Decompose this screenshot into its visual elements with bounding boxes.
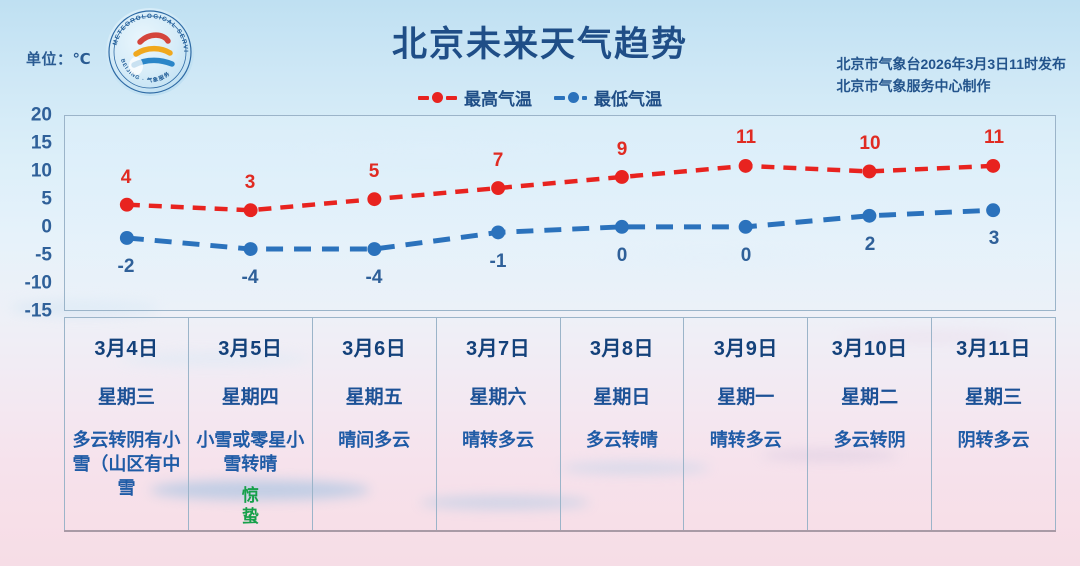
- forecast-date: 3月9日: [714, 332, 778, 361]
- legend-label-high: 最高气温: [464, 85, 532, 110]
- data-point-marker: [862, 165, 876, 179]
- legend-item-high: 最高气温: [418, 85, 532, 110]
- forecast-column-5[interactable]: 3月8日星期日多云转晴: [561, 318, 685, 530]
- temperature-chart-plot-area: [64, 115, 1056, 311]
- value-label-low: -1: [490, 251, 507, 273]
- value-label-high: 7: [493, 150, 504, 172]
- data-point-marker: [615, 170, 629, 184]
- forecast-weather: 晴转多云: [704, 429, 788, 453]
- y-axis-tick: -15: [25, 302, 52, 321]
- forecast-weather: 多云转阴: [828, 429, 912, 453]
- data-point-marker: [491, 181, 505, 195]
- forecast-column-4[interactable]: 3月7日星期六晴转多云: [437, 318, 561, 530]
- data-point-marker: [120, 198, 134, 212]
- data-point-marker: [862, 209, 876, 223]
- value-label-low: 0: [617, 245, 628, 267]
- forecast-column-6[interactable]: 3月9日星期一晴转多云: [684, 318, 808, 530]
- y-axis-tick: 0: [41, 218, 52, 237]
- y-axis-tick: 5: [41, 190, 52, 209]
- y-axis-tick: -5: [35, 246, 52, 265]
- forecast-date: 3月5日: [218, 332, 282, 361]
- data-point-marker: [244, 242, 258, 256]
- legend-label-low: 最低气温: [594, 85, 662, 110]
- y-axis-tick: 20: [31, 106, 52, 125]
- value-label-high: 3: [245, 172, 256, 194]
- value-label-low: -4: [242, 267, 259, 289]
- forecast-weekday: 星期三: [98, 382, 155, 409]
- data-point-marker: [739, 159, 753, 173]
- forecast-weekday: 星期六: [470, 382, 527, 409]
- forecast-column-8[interactable]: 3月11日星期三阴转多云: [932, 318, 1056, 530]
- value-label-low: 2: [865, 234, 876, 256]
- chart-legend: 最高气温 最低气温: [0, 85, 1080, 110]
- forecast-column-7[interactable]: 3月10日星期二多云转阴: [808, 318, 932, 530]
- forecast-weather: 阴转多云: [952, 429, 1036, 453]
- data-point-marker: [739, 220, 753, 234]
- value-label-high: 4: [121, 167, 132, 189]
- data-point-marker: [367, 242, 381, 256]
- forecast-date: 3月4日: [94, 332, 158, 361]
- value-label-high: 10: [859, 133, 880, 155]
- value-label-low: 3: [989, 228, 1000, 250]
- value-label-low: -2: [118, 256, 135, 278]
- value-label-high: 5: [369, 161, 380, 183]
- legend-swatch-high-icon: [418, 92, 457, 103]
- data-point-marker: [986, 203, 1000, 217]
- value-label-high: 11: [984, 127, 1004, 149]
- forecast-weather: 晴间多云: [332, 429, 416, 453]
- y-axis-tick: 10: [31, 162, 52, 181]
- value-label-low: -4: [366, 267, 383, 289]
- value-label-high: 9: [617, 139, 628, 161]
- forecast-weekday: 星期五: [346, 382, 403, 409]
- forecast-column-1[interactable]: 3月4日星期三多云转阴有小雪（山区有中雪: [64, 318, 189, 530]
- data-point-marker: [120, 231, 134, 245]
- forecast-date: 3月11日: [956, 332, 1031, 361]
- value-label-low: 0: [741, 245, 752, 267]
- forecast-weekday: 星期四: [222, 382, 279, 409]
- forecast-column-3[interactable]: 3月6日星期五晴间多云: [313, 318, 437, 530]
- y-axis-tick: 15: [31, 134, 52, 153]
- forecast-weather: 多云转晴: [580, 429, 664, 453]
- forecast-weekday: 星期一: [717, 382, 774, 409]
- forecast-column-2[interactable]: 3月5日星期四小雪或零星小雪转晴惊蛰: [189, 318, 313, 530]
- weather-forecast-graphic: 单位：℃ METEOROLOGICAL SERVICE BEIJING · 气象…: [0, 0, 1080, 566]
- forecast-weather: 晴转多云: [456, 429, 540, 453]
- forecast-table: 3月4日星期三多云转阴有小雪（山区有中雪3月5日星期四小雪或零星小雪转晴惊蛰3月…: [64, 317, 1056, 532]
- forecast-weekday: 星期三: [965, 382, 1022, 409]
- legend-item-low: 最低气温: [554, 85, 662, 110]
- forecast-weather: 小雪或零星小雪转晴: [189, 429, 312, 477]
- forecast-date: 3月6日: [342, 332, 406, 361]
- data-point-marker: [367, 192, 381, 206]
- y-axis: 20151050-5-10-15: [0, 115, 58, 311]
- forecast-date: 3月7日: [466, 332, 530, 361]
- forecast-weekday: 星期日: [593, 382, 650, 409]
- data-point-marker: [491, 225, 505, 239]
- forecast-date: 3月8日: [590, 332, 654, 361]
- value-label-high: 11: [736, 127, 756, 149]
- forecast-weather: 多云转阴有小雪（山区有中雪: [65, 429, 188, 500]
- legend-swatch-low-icon: [554, 92, 587, 103]
- solar-term-label: 惊蛰: [242, 485, 259, 529]
- forecast-date: 3月10日: [832, 332, 908, 361]
- attribution-issued: 北京市气象台2026年3月3日11时发布: [836, 54, 1066, 76]
- forecast-weekday: 星期二: [841, 382, 898, 409]
- data-point-marker: [615, 220, 629, 234]
- data-point-marker: [244, 203, 258, 217]
- y-axis-tick: -10: [25, 274, 52, 293]
- data-point-marker: [986, 159, 1000, 173]
